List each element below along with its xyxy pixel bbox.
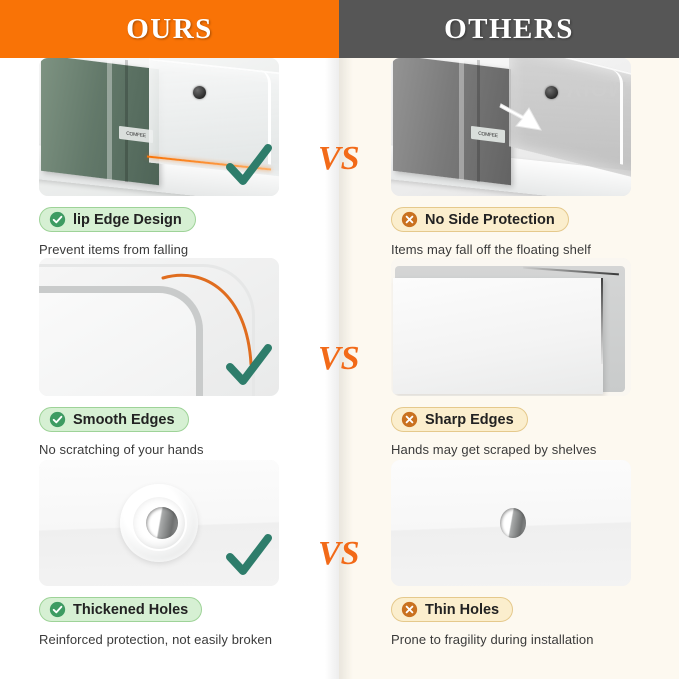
badge-sharp-edges: Sharp Edges — [391, 407, 528, 432]
badge-label: Thickened Holes — [73, 602, 188, 618]
check-circle-icon — [49, 601, 66, 618]
falling-arrow-icon — [499, 102, 545, 132]
caption-smooth-edges: No scratching of your hands — [39, 442, 339, 457]
x-circle-icon — [401, 411, 418, 428]
green-check-icon — [225, 533, 273, 584]
badge-label: lip Edge Design — [73, 212, 182, 228]
x-circle-icon — [401, 601, 418, 618]
vs-marker-row-2: VS — [318, 340, 360, 378]
others-cell-thin-holes: Thin Holes Prone to fragility during ins… — [391, 460, 679, 647]
others-cell-no-side-protection: COMFEE MOIV — [391, 58, 679, 257]
x-circle-icon — [401, 211, 418, 228]
badge-lip-edge-design: lip Edge Design — [39, 207, 196, 232]
others-cell-sharp-edges: Sharp Edges Hands may get scraped by she… — [391, 258, 679, 457]
badge-thickened-holes: Thickened Holes — [39, 597, 202, 622]
green-check-icon — [225, 343, 273, 394]
badge-thin-holes: Thin Holes — [391, 597, 513, 622]
caption-thin-holes: Prone to fragility during installation — [391, 632, 679, 647]
badge-smooth-edges: Smooth Edges — [39, 407, 189, 432]
shelf-without-lip-edge-photo: COMFEE MOIV — [391, 58, 631, 196]
vs-marker-row-3: VS — [318, 535, 360, 573]
check-circle-icon — [49, 411, 66, 428]
ours-cell-lip-edge: COMFEE — [39, 58, 339, 257]
badge-no-side-protection: No Side Protection — [391, 207, 569, 232]
badge-label: Sharp Edges — [425, 412, 514, 428]
badge-label: Thin Holes — [425, 602, 499, 618]
caption-sharp-edges: Hands may get scraped by shelves — [391, 442, 679, 457]
ours-cell-thickened-holes: Thickened Holes Reinforced protection, n… — [39, 460, 339, 647]
header-ours: OURS — [0, 0, 339, 58]
check-circle-icon — [49, 211, 66, 228]
thickened-mounting-hole-photo — [39, 460, 279, 586]
caption-thickened-holes: Reinforced protection, not easily broken — [39, 632, 339, 647]
sharp-corner-photo — [391, 258, 631, 396]
comparison-header: OURS OTHERS — [0, 0, 679, 58]
sharp-edge-highlight-vertical — [601, 278, 603, 364]
caption-no-side-protection: Items may fall off the floating shelf — [391, 242, 679, 257]
thin-mounting-hole-photo — [391, 460, 631, 586]
rounded-corner-photo — [39, 258, 279, 396]
green-check-icon — [225, 143, 273, 194]
screw-icon — [545, 86, 558, 99]
header-others: OTHERS — [339, 0, 679, 58]
shelf-with-lip-edge-photo: COMFEE — [39, 58, 279, 196]
ours-cell-smooth-edges: Smooth Edges No scratching of your hands — [39, 258, 339, 457]
caption-lip-edge: Prevent items from falling — [39, 242, 339, 257]
badge-label: No Side Protection — [425, 212, 555, 228]
screw-icon — [193, 86, 206, 99]
vs-marker-row-1: VS — [318, 140, 360, 178]
badge-label: Smooth Edges — [73, 412, 175, 428]
comparison-infographic: OURS OTHERS COMFEE — [0, 0, 679, 679]
